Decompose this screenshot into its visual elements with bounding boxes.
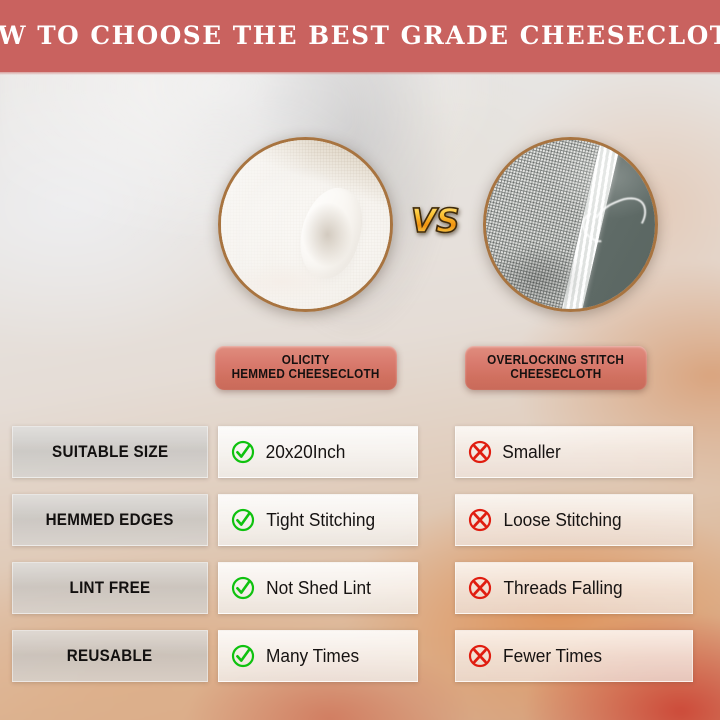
bad-value-label: Smaller	[502, 442, 561, 463]
good-value-label: 20x20Inch	[266, 442, 346, 463]
green-check-circle-icon	[231, 508, 255, 532]
infographic-page: HOW TO CHOOSE THE BEST GRADE CHEESECLOTH…	[0, 0, 720, 720]
table-row: LINT FREENot Shed LintThreads Falling	[0, 562, 720, 614]
good-value-label: Many Times	[266, 646, 359, 667]
red-cross-circle-icon	[468, 644, 492, 668]
table-row: REUSABLEMany TimesFewer Times	[0, 630, 720, 682]
feature-cell: REUSABLE	[12, 630, 208, 682]
good-value-label: Tight Stitching	[266, 510, 375, 531]
green-check-circle-icon	[231, 644, 255, 668]
header-banner: HOW TO CHOOSE THE BEST GRADE CHEESECLOTH…	[0, 0, 720, 72]
good-value-cell: Many Times	[218, 630, 418, 682]
comparison-table: SUITABLE SIZE20x20InchSmallerHEMMED EDGE…	[0, 0, 720, 720]
header-divider	[0, 72, 720, 75]
good-value-cell: 20x20Inch	[218, 426, 418, 478]
bad-value-cell: Threads Falling	[455, 562, 693, 614]
bad-value-cell: Smaller	[455, 426, 693, 478]
bad-value-cell: Fewer Times	[455, 630, 693, 682]
green-check-circle-icon	[231, 576, 255, 600]
feature-label: REUSABLE	[67, 647, 153, 666]
table-row: HEMMED EDGESTight StitchingLoose Stitchi…	[0, 494, 720, 546]
feature-cell: LINT FREE	[12, 562, 208, 614]
red-cross-circle-icon	[468, 576, 492, 600]
feature-cell: HEMMED EDGES	[12, 494, 208, 546]
bad-value-label: Fewer Times	[503, 646, 602, 667]
good-value-cell: Tight Stitching	[218, 494, 418, 546]
feature-label: LINT FREE	[70, 579, 151, 598]
green-check-circle-icon	[231, 440, 255, 464]
bad-value-label: Loose Stitching	[503, 510, 621, 531]
feature-label: HEMMED EDGES	[46, 511, 174, 530]
page-title: HOW TO CHOOSE THE BEST GRADE CHEESECLOTH…	[0, 21, 720, 51]
feature-cell: SUITABLE SIZE	[12, 426, 208, 478]
table-row: SUITABLE SIZE20x20InchSmaller	[0, 426, 720, 478]
bad-value-cell: Loose Stitching	[455, 494, 693, 546]
red-cross-circle-icon	[468, 440, 492, 464]
red-cross-circle-icon	[468, 508, 492, 532]
good-value-label: Not Shed Lint	[266, 578, 371, 599]
bad-value-label: Threads Falling	[503, 578, 622, 599]
good-value-cell: Not Shed Lint	[218, 562, 418, 614]
feature-label: SUITABLE SIZE	[52, 443, 168, 462]
